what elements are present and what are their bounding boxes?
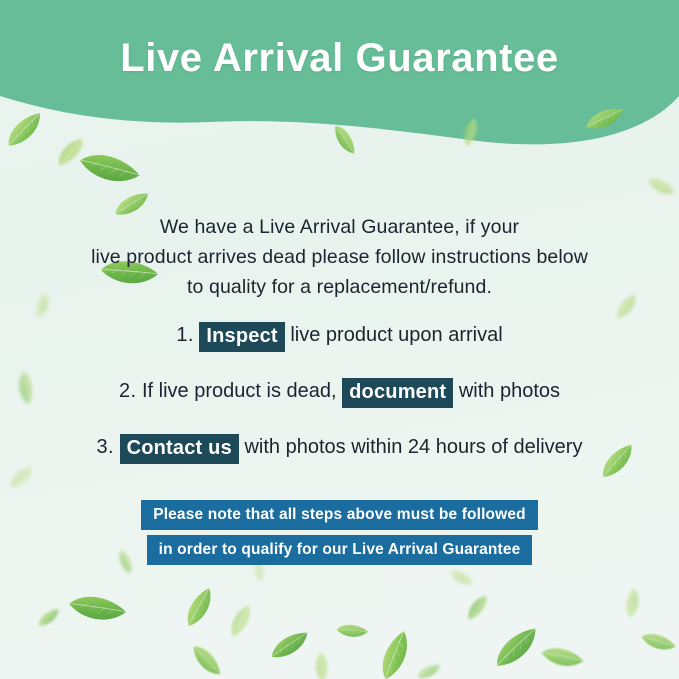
step-number-3: 3. bbox=[97, 436, 114, 458]
step-text-3-after: with photos within 24 hours of delivery bbox=[244, 436, 582, 458]
step-item-3: 3. Contact us with photos within 24 hour… bbox=[20, 432, 659, 463]
step-text-2-before: If live product is dead, bbox=[142, 380, 337, 402]
note-banner: Please note that all steps above must be… bbox=[0, 500, 679, 565]
intro-line-1: We have a Live Arrival Guarantee, if you… bbox=[50, 212, 629, 242]
step-text-1-after: live product upon arrival bbox=[290, 324, 502, 346]
content-area: We have a Live Arrival Guarantee, if you… bbox=[0, 0, 679, 679]
live-arrival-guarantee-infographic: Live Arrival Guarantee We have a Live Ar… bbox=[0, 0, 679, 679]
note-line-2: in order to qualify for our Live Arrival… bbox=[147, 535, 533, 565]
step-highlight-inspect: Inspect bbox=[199, 322, 284, 352]
intro-line-3: to quality for a replacement/refund. bbox=[50, 272, 629, 302]
step-highlight-contact-us[interactable]: Contact us bbox=[120, 434, 239, 464]
step-highlight-document: document bbox=[342, 378, 453, 408]
note-line-1: Please note that all steps above must be… bbox=[141, 500, 538, 530]
steps-list: 1. Inspect live product upon arrival 2. … bbox=[20, 320, 659, 488]
step-number-2: 2. bbox=[119, 380, 136, 402]
step-item-1: 1. Inspect live product upon arrival bbox=[20, 320, 659, 351]
note-row-1: Please note that all steps above must be… bbox=[0, 500, 679, 530]
intro-line-2: live product arrives dead please follow … bbox=[50, 242, 629, 272]
note-row-2: in order to qualify for our Live Arrival… bbox=[0, 535, 679, 565]
intro-paragraph: We have a Live Arrival Guarantee, if you… bbox=[50, 212, 629, 302]
step-number-1: 1. bbox=[176, 324, 193, 346]
step-text-2-after: with photos bbox=[459, 380, 560, 402]
step-item-2: 2. If live product is dead, document wit… bbox=[20, 376, 659, 407]
